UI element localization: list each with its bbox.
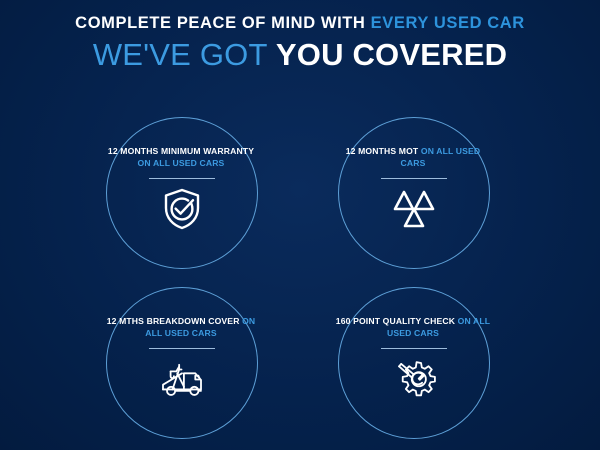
feature-title-white: 12 MONTHS MINIMUM WARRANTY <box>108 146 254 156</box>
gear-wrench-icon <box>389 356 439 402</box>
feature-title-warranty: 12 MONTHS MINIMUM WARRANTY ON ALL USED C… <box>103 145 259 169</box>
headline-line-1: COMPLETE PEACE OF MIND WITH EVERY USED C… <box>0 14 600 32</box>
divider <box>381 178 447 179</box>
headline-line-1-white: COMPLETE PEACE OF MIND WITH <box>75 14 370 32</box>
headline-line-2-light: WE'VE GOT <box>93 37 276 72</box>
headline-line-1-accent: EVERY USED CAR <box>371 14 525 32</box>
feature-title-quality-check: 160 POINT QUALITY CHECK ON ALL USED CARS <box>335 315 491 339</box>
feature-title-white: 12 MONTHS MOT <box>346 146 421 156</box>
feature-title-white: 160 POINT QUALITY CHECK <box>336 316 458 326</box>
divider <box>381 348 447 349</box>
headline-block: COMPLETE PEACE OF MIND WITH EVERY USED C… <box>0 14 600 72</box>
headline-line-2-bold: YOU COVERED <box>276 37 507 72</box>
headline-line-2: WE'VE GOT YOU COVERED <box>0 38 600 71</box>
mot-triangles-icon <box>389 186 439 232</box>
tow-truck-icon <box>157 356 207 402</box>
feature-circle-quality-check: 160 POINT QUALITY CHECK ON ALL USED CARS <box>338 287 490 439</box>
feature-circle-warranty: 12 MONTHS MINIMUM WARRANTY ON ALL USED C… <box>106 117 258 269</box>
feature-circle-breakdown: 12 MTHS BREAKDOWN COVER ON ALL USED CARS <box>106 287 258 439</box>
divider <box>149 178 215 179</box>
shield-check-icon <box>157 186 207 232</box>
feature-title-mot: 12 MONTHS MOT ON ALL USED CARS <box>335 145 491 169</box>
feature-title-white: 12 MTHS BREAKDOWN COVER <box>107 316 242 326</box>
divider <box>149 348 215 349</box>
feature-title-breakdown: 12 MTHS BREAKDOWN COVER ON ALL USED CARS <box>103 315 259 339</box>
feature-circle-mot: 12 MONTHS MOT ON ALL USED CARS <box>338 117 490 269</box>
promo-banner: COMPLETE PEACE OF MIND WITH EVERY USED C… <box>0 0 600 450</box>
feature-title-accent: ON ALL USED CARS <box>138 158 225 168</box>
